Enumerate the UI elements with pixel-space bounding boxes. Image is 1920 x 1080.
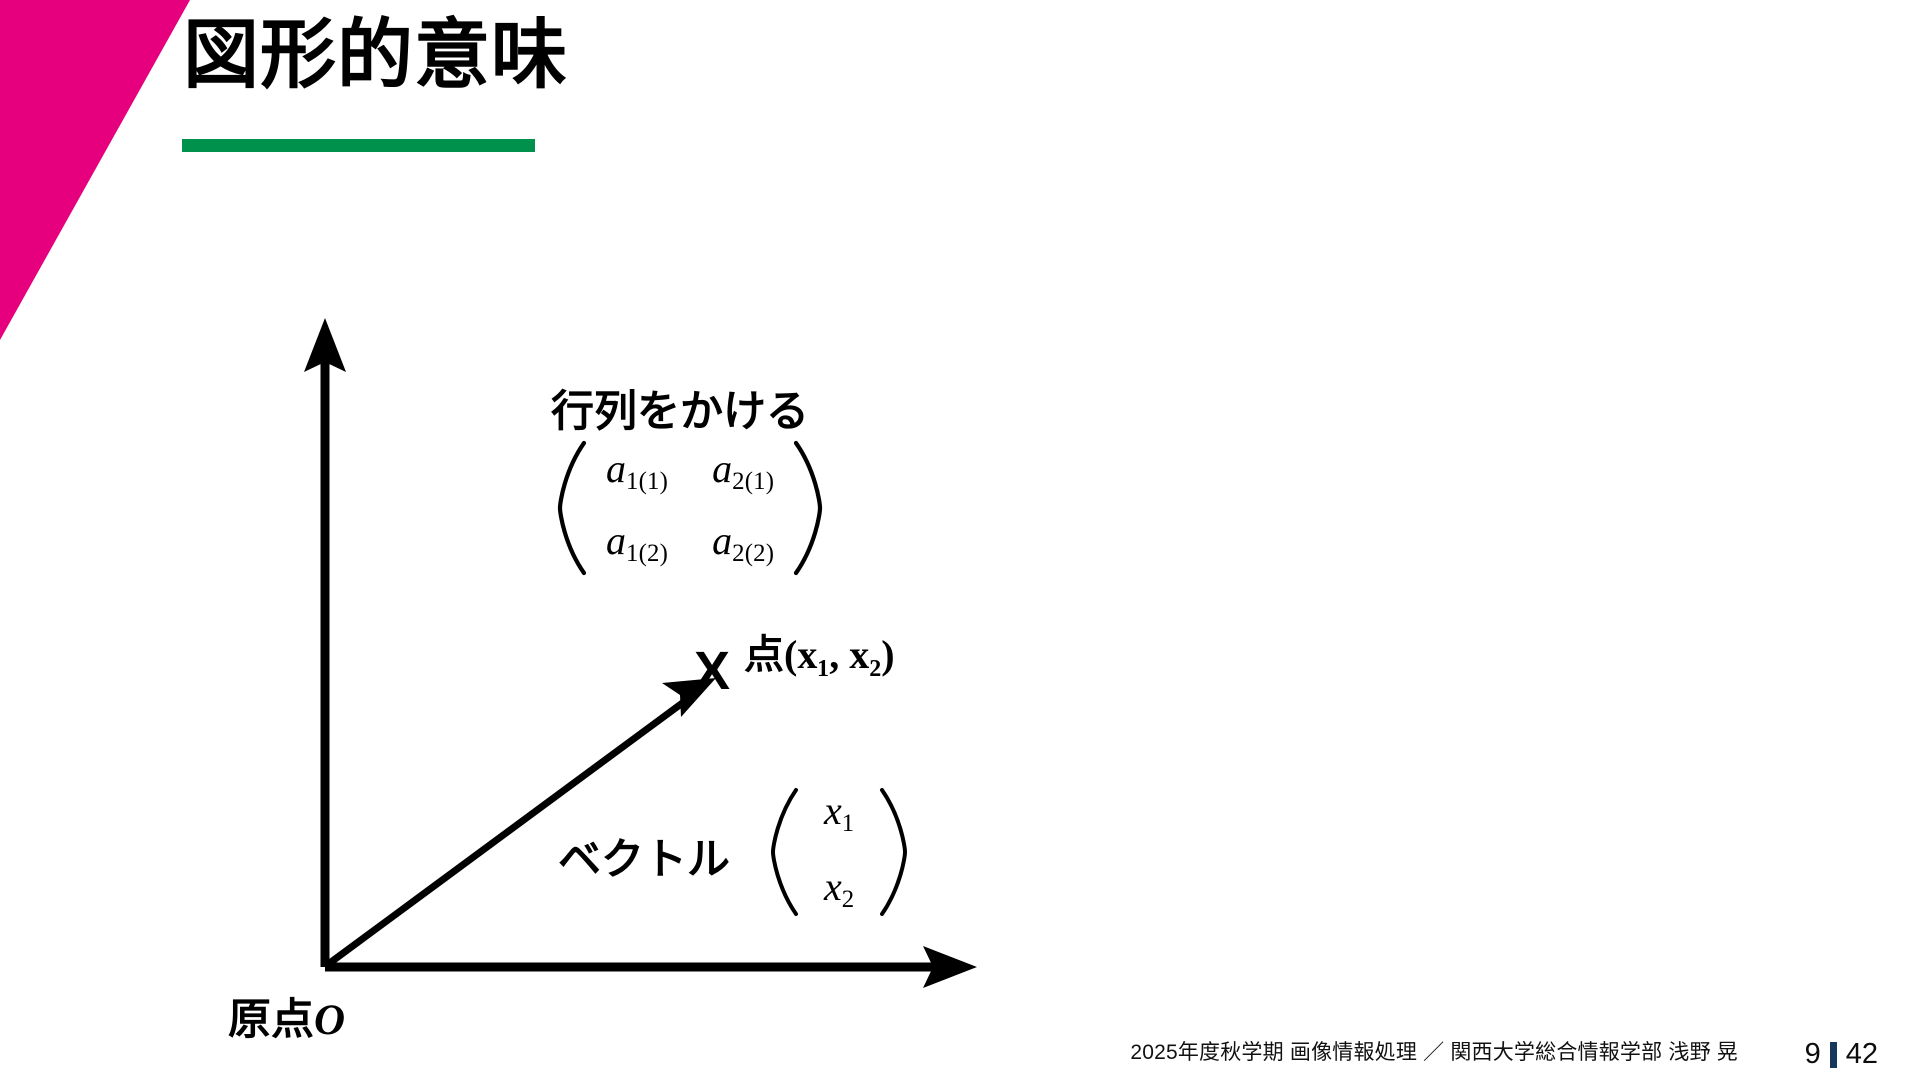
- matrix-right-paren-icon: [792, 440, 826, 576]
- page-separator-bar: [1830, 1042, 1837, 1068]
- vector-cells: x1 x2: [800, 785, 878, 918]
- matrix-cell-r1c2: a2(1): [712, 449, 774, 495]
- slide-root: 図形的意味 X 行列をかける a1(1) a2(1): [0, 0, 1920, 1080]
- slide-footer: 2025年度秋学期 画像情報処理 ／ 関西大学総合情報学部 浅野 晃 9 42: [0, 1028, 1920, 1080]
- matrix-caption-label: 行列をかける: [551, 377, 809, 439]
- matrix-cell-r1c1: a1(1): [606, 449, 668, 495]
- vector-arrow-icon: [327, 678, 716, 965]
- page-title: 図形的意味: [183, 18, 568, 94]
- vector-right-paren-icon: [878, 787, 910, 917]
- matrix-cell-r2c2: a2(2): [712, 521, 774, 567]
- vector-left-paren-icon: [768, 787, 800, 917]
- footer-course-text: 2025年度秋学期 画像情報処理 ／ 関西大学総合情報学部 浅野 晃: [1130, 1036, 1738, 1066]
- matrix-cell-r2c1: a1(2): [606, 521, 668, 567]
- matrix-expression: a1(1) a2(1) a1(2) a2(2): [554, 440, 826, 576]
- vector-caption-label: ベクトル: [558, 825, 730, 887]
- matrix-cells: a1(1) a2(1) a1(2) a2(2): [588, 443, 792, 572]
- y-axis-icon: [304, 318, 346, 967]
- coordinate-diagram: [0, 0, 1920, 1080]
- page-current: 9: [1805, 1038, 1821, 1071]
- point-marker-x: X: [694, 644, 730, 698]
- matrix-left-paren-icon: [554, 440, 588, 576]
- footer-page-indicator: 9 42: [1805, 1038, 1878, 1071]
- page-total: 42: [1846, 1038, 1878, 1071]
- vector-cell-r1: x1: [824, 791, 854, 837]
- x-axis-icon: [325, 946, 977, 988]
- vector-expression: x1 x2: [768, 785, 910, 918]
- corner-wedge-decoration: [0, 0, 190, 340]
- title-underline-rule: [182, 139, 535, 152]
- vector-cell-r2: x2: [824, 867, 854, 913]
- point-label: 点(x₁, x₂): [744, 622, 895, 680]
